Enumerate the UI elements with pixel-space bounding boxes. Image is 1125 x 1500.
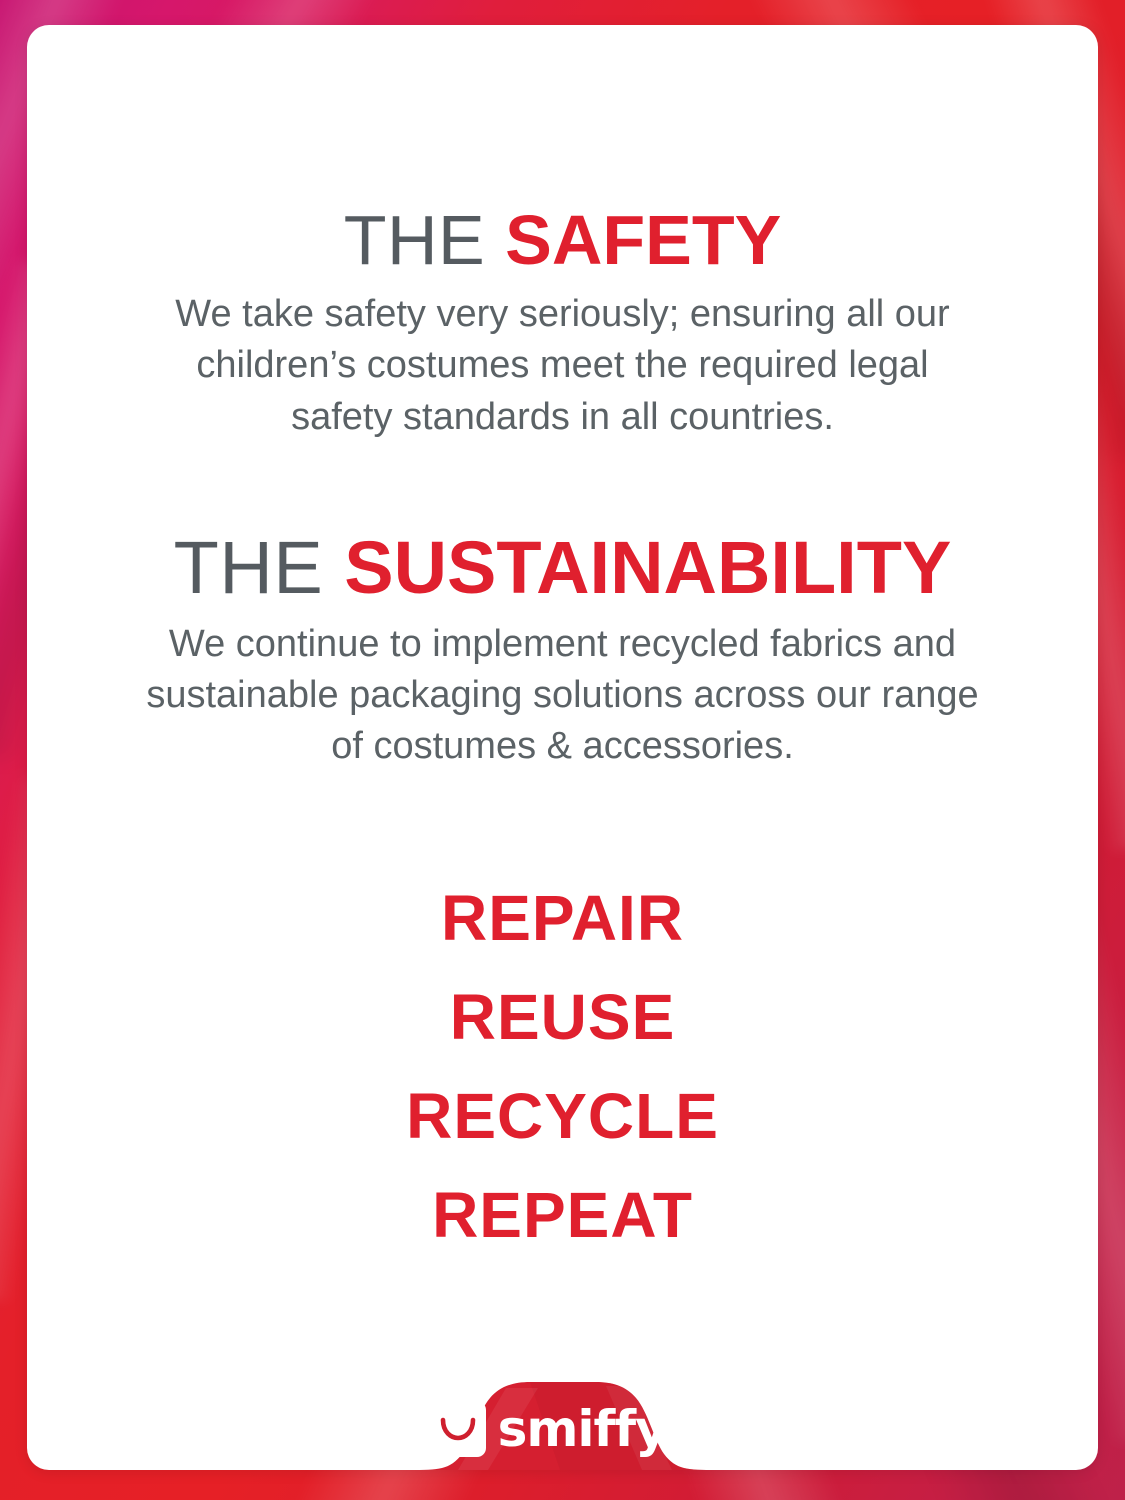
sustainability-heading-highlight: SUSTAINABILITY	[344, 526, 951, 609]
content-body: THE SAFETY We take safety very seriously…	[27, 205, 1098, 1266]
safety-heading-prefix: THE	[344, 201, 486, 279]
section-safety: THE SAFETY We take safety very seriously…	[63, 205, 1062, 443]
content-card: THE SAFETY We take safety very seriously…	[27, 25, 1098, 1470]
slogan-block: REPAIR REUSE RECYCLE REPEAT	[63, 869, 1062, 1266]
safety-heading: THE SAFETY	[63, 205, 1062, 275]
poster: THE SAFETY We take safety very seriously…	[0, 0, 1125, 1500]
sustainability-body-text: We continue to implement recycled fabric…	[143, 619, 983, 773]
smile-icon-glyph	[439, 1416, 477, 1442]
sustainability-heading: THE SUSTAINABILITY	[63, 531, 1062, 605]
slogan-line-repeat: REPEAT	[63, 1166, 1062, 1265]
safety-heading-highlight: SAFETY	[505, 201, 781, 279]
slogan-line-repair: REPAIR	[63, 869, 1062, 968]
sustainability-heading-prefix: THE	[174, 526, 324, 609]
section-spacer	[63, 443, 1062, 531]
logo-content: smiffys™	[410, 1366, 716, 1470]
section-sustainability: THE SUSTAINABILITY We continue to implem…	[63, 531, 1062, 773]
smiffys-logo[interactable]: smiffys™	[410, 1366, 716, 1470]
trademark-symbol: ™	[704, 1398, 719, 1413]
slogan-line-reuse: REUSE	[63, 968, 1062, 1067]
smile-icon	[430, 1401, 486, 1457]
logo-wordmark: smiffys™	[498, 1404, 696, 1454]
slogan-line-recycle: RECYCLE	[63, 1067, 1062, 1166]
safety-body-text: We take safety very seriously; ensuring …	[143, 289, 983, 443]
logo-wordmark-text: smiffys	[498, 1400, 696, 1458]
